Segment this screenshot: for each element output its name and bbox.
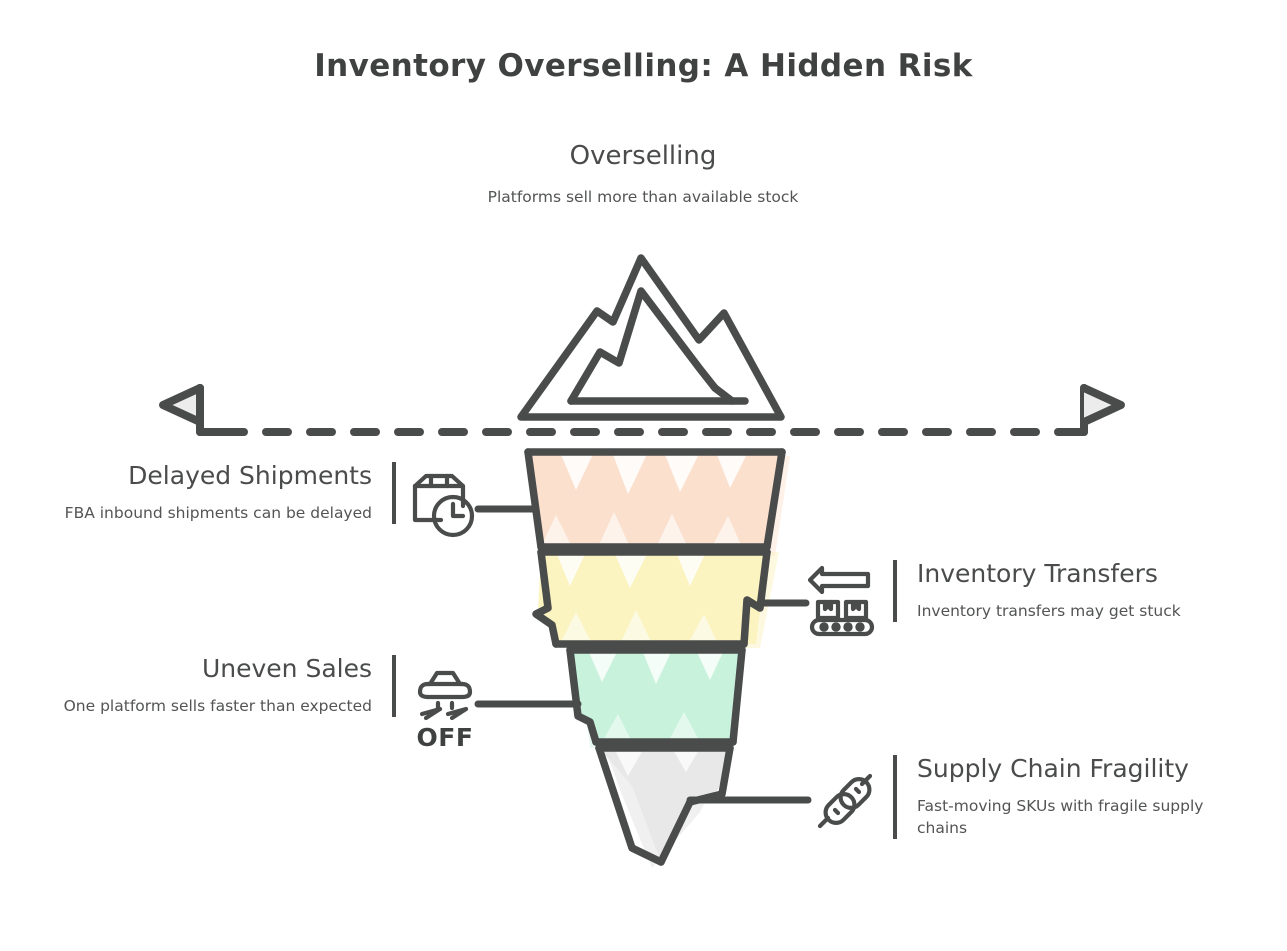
- traction-off-label: OFF: [417, 723, 474, 752]
- label-block-overselling: Overselling Platforms sell more than ava…: [448, 142, 838, 208]
- traction-control-off-icon: OFF: [417, 673, 474, 752]
- iceberg-band-uneven-sales: [570, 650, 742, 742]
- iceberg-band-inventory-transfers: [536, 552, 767, 644]
- iceberg-band-supply-chain-fragility: [599, 748, 730, 862]
- iceberg-band-delayed-shipments: [528, 452, 782, 547]
- page-title: Inventory Overselling: A Hidden Risk: [0, 48, 1287, 84]
- block-description: FBA inbound shipments can be delayed: [58, 502, 372, 524]
- block-title: Inventory Transfers: [917, 560, 1237, 589]
- block-title: Overselling: [448, 142, 838, 172]
- block-description: Platforms sell more than available stock: [448, 186, 838, 208]
- block-title: Supply Chain Fragility: [917, 755, 1237, 784]
- label-block-uneven-sales: Uneven Sales One platform sells faster t…: [58, 655, 396, 717]
- label-block-inventory-transfers: Inventory Transfers Inventory transfers …: [893, 560, 1237, 622]
- flag-left-icon: [163, 388, 222, 432]
- mountain-peak-icon: [521, 258, 781, 417]
- conveyor-belt-arrow-icon: [810, 568, 872, 634]
- flag-right-icon: [1062, 388, 1121, 432]
- broken-chain-link-icon: [820, 775, 874, 827]
- block-title: Delayed Shipments: [58, 462, 372, 491]
- block-description: Inventory transfers may get stuck: [917, 600, 1237, 622]
- package-clock-icon: [415, 476, 472, 535]
- label-block-supply-chain-fragility: Supply Chain Fragility Fast-moving SKUs …: [893, 755, 1237, 839]
- label-block-delayed-shipments: Delayed Shipments FBA inbound shipments …: [58, 462, 396, 524]
- block-title: Uneven Sales: [58, 655, 372, 684]
- block-description: One platform sells faster than expected: [58, 695, 372, 717]
- block-description: Fast-moving SKUs with fragile supply cha…: [917, 795, 1237, 839]
